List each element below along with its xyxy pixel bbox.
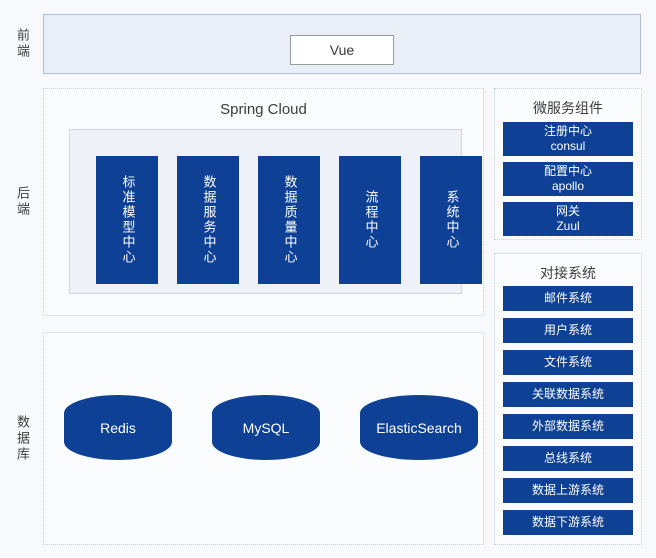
frontend-item-vue[interactable]: Vue: [290, 35, 394, 65]
spring-cloud-inner-panel: 标准模型中心 数据服务中心 数据质量中心 流程中心 系统中心: [69, 129, 462, 294]
microservice-item-gateway-tech: Zuul: [556, 219, 579, 234]
docking-item-related-data[interactable]: 关联数据系统: [503, 382, 633, 407]
docking-item-bus[interactable]: 总线系统: [503, 446, 633, 471]
microservice-item-config[interactable]: 配置中心 apollo: [503, 162, 633, 196]
database-cylinder-elasticsearch[interactable]: ElasticSearch: [360, 395, 478, 460]
microservice-item-registry[interactable]: 注册中心 consul: [503, 122, 633, 156]
row-label-frontend: 前端: [0, 14, 43, 74]
docking-item-user[interactable]: 用户系统: [503, 318, 633, 343]
row-label-backend: 后端: [0, 88, 43, 316]
docking-item-file[interactable]: 文件系统: [503, 350, 633, 375]
spring-cloud-container: Spring Cloud 标准模型中心 数据服务中心 数据质量中心 流程中心 系…: [43, 88, 484, 316]
docking-item-related-data-label: 关联数据系统: [532, 387, 604, 402]
docking-systems-panel: 对接系统 邮件系统 用户系统 文件系统 关联数据系统 外部数据系统 总线系统 数…: [494, 253, 642, 545]
database-container: Redis MySQL ElasticSearch: [43, 332, 484, 545]
docking-item-external-data[interactable]: 外部数据系统: [503, 414, 633, 439]
docking-item-upstream-data[interactable]: 数据上游系统: [503, 478, 633, 503]
docking-item-upstream-data-label: 数据上游系统: [532, 483, 604, 498]
microservice-item-registry-name: 注册中心: [544, 124, 592, 139]
microservice-components-panel: 微服务组件 注册中心 consul 配置中心 apollo 网关 Zuul: [494, 88, 642, 240]
microservice-item-config-name: 配置中心: [544, 164, 592, 179]
docking-item-file-label: 文件系统: [544, 355, 592, 370]
spring-cloud-title: Spring Cloud: [44, 101, 483, 118]
row-label-frontend-text: 前端: [14, 28, 29, 60]
microservice-item-gateway[interactable]: 网关 Zuul: [503, 202, 633, 236]
docking-item-user-label: 用户系统: [544, 323, 592, 338]
center-box-data-service-label: 数据服务中心: [201, 175, 216, 265]
microservice-item-gateway-name: 网关: [556, 204, 580, 219]
row-label-backend-text: 后端: [14, 186, 29, 218]
microservice-item-config-tech: apollo: [552, 179, 584, 194]
center-box-standard-model[interactable]: 标准模型中心: [96, 156, 158, 284]
docking-item-mail[interactable]: 邮件系统: [503, 286, 633, 311]
docking-item-external-data-label: 外部数据系统: [532, 419, 604, 434]
database-cylinder-mysql-label: MySQL: [243, 420, 290, 436]
docking-systems-title: 对接系统: [495, 263, 641, 283]
center-box-data-quality-label: 数据质量中心: [282, 175, 297, 265]
microservice-components-title: 微服务组件: [495, 98, 641, 118]
center-box-data-quality[interactable]: 数据质量中心: [258, 156, 320, 284]
center-box-system[interactable]: 系统中心: [420, 156, 482, 284]
database-cylinder-elasticsearch-label: ElasticSearch: [376, 420, 462, 436]
database-cylinder-redis-label: Redis: [100, 420, 136, 436]
microservice-item-registry-tech: consul: [551, 139, 586, 154]
docking-item-mail-label: 邮件系统: [544, 291, 592, 306]
center-box-process-label: 流程中心: [363, 190, 378, 250]
center-box-data-service[interactable]: 数据服务中心: [177, 156, 239, 284]
database-cylinder-redis[interactable]: Redis: [64, 395, 172, 460]
frontend-item-vue-label: Vue: [330, 42, 354, 58]
row-label-database-text: 数据库: [14, 415, 29, 463]
docking-item-downstream-data-label: 数据下游系统: [532, 515, 604, 530]
docking-item-downstream-data[interactable]: 数据下游系统: [503, 510, 633, 535]
center-box-process[interactable]: 流程中心: [339, 156, 401, 284]
database-cylinder-mysql[interactable]: MySQL: [212, 395, 320, 460]
center-box-standard-model-label: 标准模型中心: [120, 175, 135, 265]
docking-item-bus-label: 总线系统: [544, 451, 592, 466]
center-box-system-label: 系统中心: [444, 190, 459, 250]
row-label-database: 数据库: [0, 332, 43, 545]
